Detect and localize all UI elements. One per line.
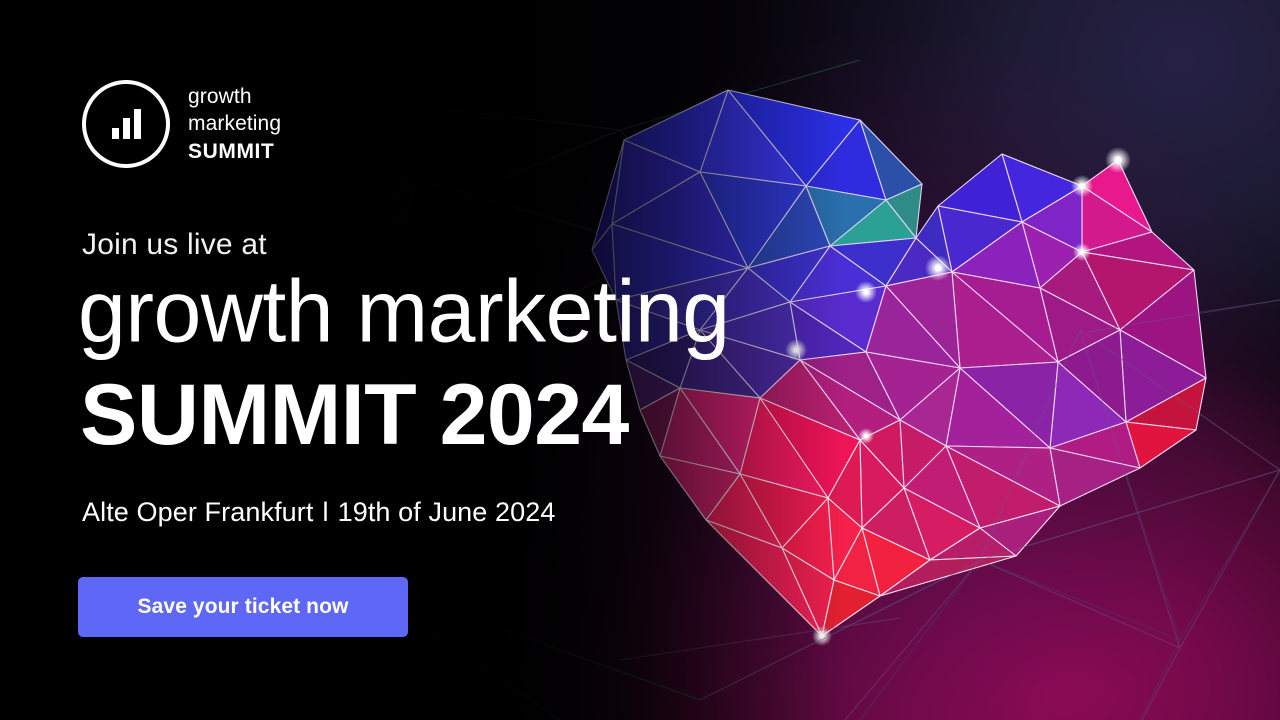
promo-banner: growth marketing SUMMIT Join us live at … — [0, 0, 1280, 720]
logo-line-2: marketing — [188, 110, 281, 137]
venue-name: Alte Oper Frankfurt — [82, 497, 313, 527]
content-layer: growth marketing SUMMIT Join us live at … — [0, 0, 1280, 720]
logo-line-1: growth — [188, 83, 281, 110]
event-details: Alte Oper Frankfurtl19th of June 2024 — [82, 497, 555, 528]
save-ticket-button[interactable]: Save your ticket now — [78, 577, 408, 637]
logo-line-3: SUMMIT — [188, 138, 281, 165]
logo-circle — [82, 80, 170, 168]
event-date: 19th of June 2024 — [338, 497, 556, 527]
logo-wordmark: growth marketing SUMMIT — [188, 83, 281, 164]
hero-kicker: Join us live at — [82, 228, 267, 262]
brand-logo[interactable]: growth marketing SUMMIT — [82, 80, 281, 168]
bar-chart-icon — [112, 109, 141, 139]
detail-separator: l — [313, 497, 337, 528]
hero-title-bold: SUMMIT 2024 — [80, 372, 629, 458]
hero-title-light: growth marketing — [78, 268, 730, 356]
